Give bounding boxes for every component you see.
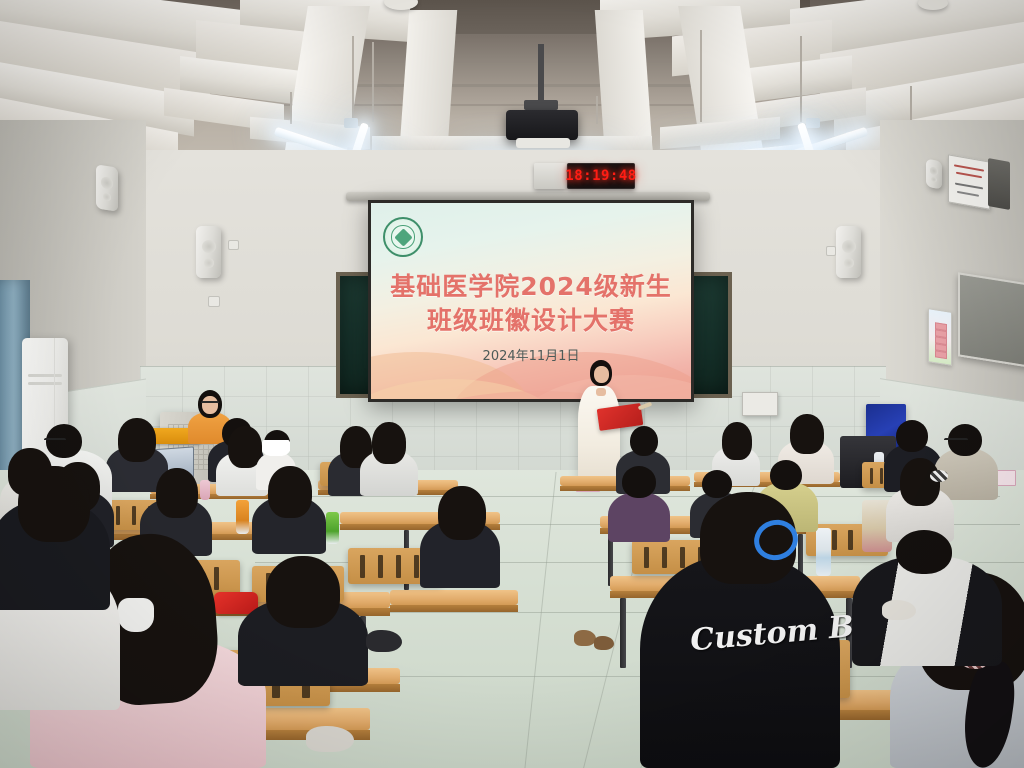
student-hair [372, 422, 406, 464]
chair-slat [378, 555, 383, 578]
face-mask [118, 598, 154, 632]
chair-slat [132, 506, 136, 525]
student-body [608, 492, 670, 542]
slide-background: 基础医学院2024级新生 班级班徽设计大赛 2024年11月1日 [371, 203, 691, 399]
student-head [702, 470, 732, 498]
wall-speaker-left [196, 226, 221, 278]
clock-mount-box [534, 163, 566, 189]
presenter-shoe [574, 630, 596, 646]
light-hanger-rod [352, 36, 354, 121]
student-hair [118, 418, 156, 462]
student-head [622, 466, 656, 498]
light-hanger-rod [800, 36, 802, 122]
presenter-neck [596, 388, 606, 396]
notice-line [957, 191, 979, 197]
student-head [896, 420, 928, 452]
projector-lens [516, 138, 570, 148]
presenter-face [594, 366, 609, 383]
tube-light-end [344, 118, 358, 128]
projection-screen: 基础医学院2024级新生 班级班徽设计大赛 2024年11月1日 [368, 200, 694, 402]
slide-title-line2: 班级班徽设计大赛 [371, 301, 691, 337]
ac-vent [28, 382, 63, 385]
student-glasses [44, 438, 66, 445]
wall-socket [208, 296, 220, 307]
chair-slat [848, 530, 853, 550]
notice-line [956, 172, 982, 179]
student-head [770, 460, 802, 490]
tube-light-end [806, 118, 820, 128]
shoe [366, 630, 402, 652]
shoe [306, 726, 354, 752]
chair-slat [870, 468, 873, 484]
wall-socket [228, 240, 239, 250]
student-hair [790, 414, 824, 454]
poster-block [935, 350, 947, 359]
chair-slat [880, 468, 883, 484]
projector-mount-bracket [524, 100, 558, 110]
projector-mount-rod [538, 44, 544, 106]
water-bottle [816, 528, 831, 576]
student-hair [438, 486, 486, 540]
university-emblem [383, 217, 423, 257]
classroom-scene: 基础医学院2024级新生 班级班徽设计大赛 2024年11月1日 18:19:4… [0, 0, 1024, 768]
led-clock: 18:19:48 [567, 163, 635, 189]
green-drink-bottle [326, 512, 339, 544]
chair-slat [832, 530, 837, 550]
chair-slat [214, 567, 219, 590]
shoe [882, 600, 916, 620]
student-body-custom-bike [640, 556, 840, 768]
wall-socket [826, 246, 836, 256]
presenter-dress [578, 386, 620, 484]
wall-gray-board [958, 272, 1024, 367]
student-glasses [944, 438, 968, 445]
light-hanger-rod [290, 92, 292, 124]
slide-date: 2024年11月1日 [371, 345, 691, 364]
wall-poster [928, 308, 952, 366]
desk-leg [620, 598, 626, 668]
desk [390, 590, 518, 605]
student-hair [268, 466, 312, 518]
orange-drink-bottle [236, 500, 249, 534]
chair-slat [396, 555, 401, 578]
notice-line [955, 183, 983, 190]
light-hanger-rod [700, 30, 702, 122]
student-hair [722, 422, 752, 460]
wall-speaker-far-left [96, 164, 118, 211]
chair-slat [662, 547, 667, 568]
presenter-shoe [594, 636, 614, 650]
led-clock-time: 18:19:48 [565, 168, 636, 184]
wall-cabinet [988, 158, 1010, 210]
hair-scrunchie [930, 470, 948, 482]
pink-item [200, 480, 210, 500]
chair-slat [644, 547, 649, 568]
student-head [630, 426, 658, 456]
hair-accessory [262, 440, 290, 456]
desk-edge [390, 605, 518, 612]
wall-camera [926, 159, 942, 190]
notice-line [954, 164, 984, 171]
chair-slat [414, 555, 419, 578]
wall-speaker-right [836, 226, 861, 278]
light-hanger-rod [910, 86, 912, 122]
student-hair [900, 458, 940, 506]
ceiling-projector [506, 110, 578, 140]
student-hair [156, 468, 198, 518]
student-head [896, 530, 952, 574]
chair-slat [116, 506, 120, 525]
student-hair [18, 466, 90, 542]
ac-vent [28, 374, 63, 377]
light-hanger-rod [372, 42, 374, 122]
wall-notice-panel [948, 154, 990, 209]
chair-slat [680, 547, 685, 568]
chair-slat [360, 555, 365, 578]
student-hair [266, 556, 340, 628]
emblem-diamond [394, 228, 412, 246]
wall-control-box [742, 392, 778, 416]
light-hanger-rod [596, 96, 598, 124]
slide-title-line1: 基础医学院2024级新生 [371, 267, 691, 303]
podium-operator-glasses [201, 401, 219, 407]
